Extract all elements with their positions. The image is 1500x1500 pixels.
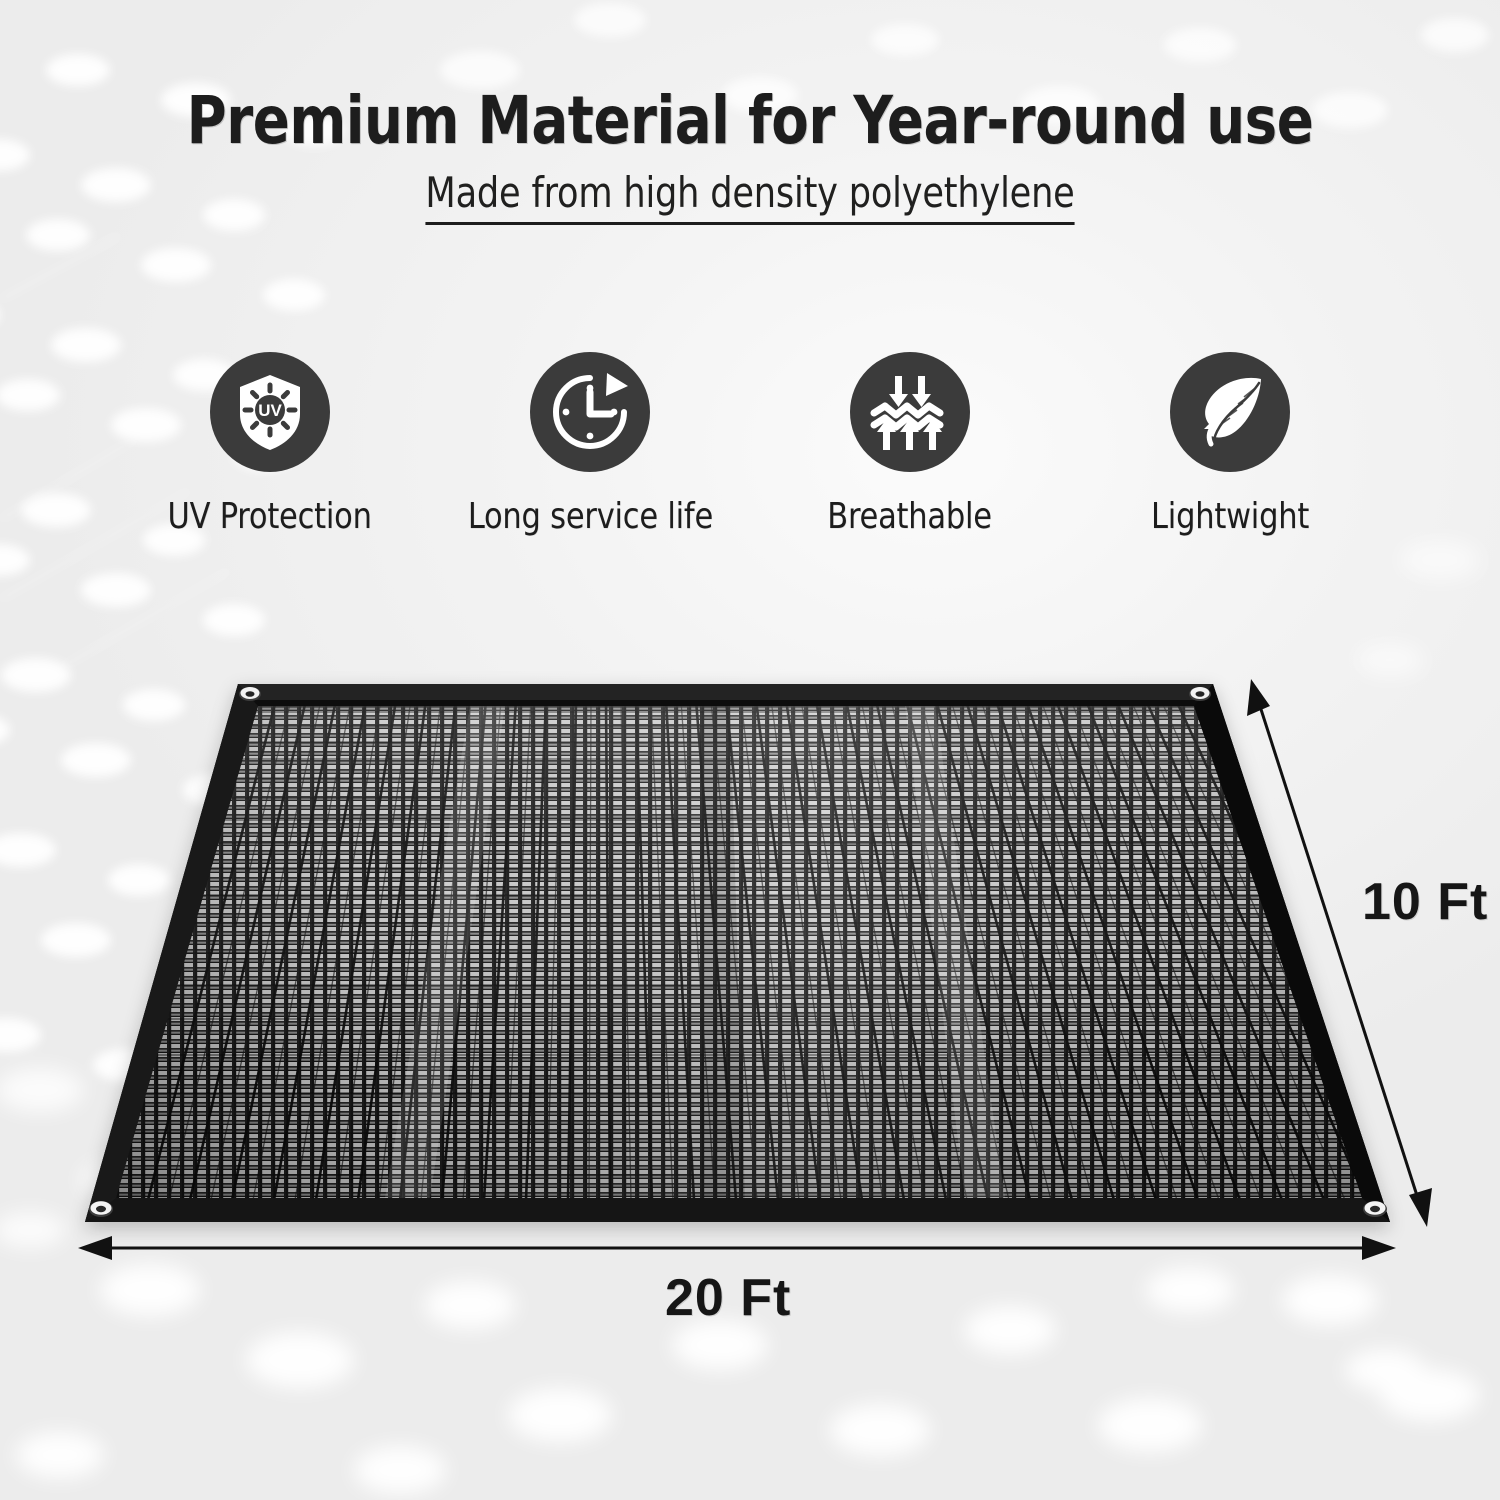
page-title: Premium Material for Year-round use	[60, 82, 1440, 159]
airflow-waves-icon	[864, 366, 956, 458]
feather-icon-badge	[1170, 352, 1290, 472]
clock-arrow-icon	[544, 366, 636, 458]
page-subtitle: Made from high density polyethylene	[425, 168, 1074, 225]
feature-lightweight: Lightwight	[1080, 352, 1380, 537]
clock-arrow-icon-badge	[530, 352, 650, 472]
page-subtitle-wrap: Made from high density polyethylene	[0, 168, 1500, 225]
feature-list: UV UV Protection Long service life	[120, 352, 1380, 562]
feature-label: Long service life	[467, 496, 712, 537]
feature-long-service-life: Long service life	[440, 352, 740, 537]
uv-badge-text: UV	[258, 401, 282, 420]
feather-icon	[1184, 366, 1276, 458]
feature-breathable: Breathable	[760, 352, 1060, 537]
feature-label: Lightwight	[1151, 496, 1309, 537]
dimension-label-width: 20 Ft	[665, 1268, 791, 1328]
uv-shield-icon-badge: UV	[210, 352, 330, 472]
feature-uv-protection: UV UV Protection	[120, 352, 420, 537]
uv-shield-icon: UV	[224, 366, 316, 458]
dimension-label-height: 10 Ft	[1362, 872, 1488, 932]
feature-label: UV Protection	[168, 496, 372, 537]
feature-label: Breathable	[828, 496, 993, 537]
airflow-waves-icon-badge	[850, 352, 970, 472]
